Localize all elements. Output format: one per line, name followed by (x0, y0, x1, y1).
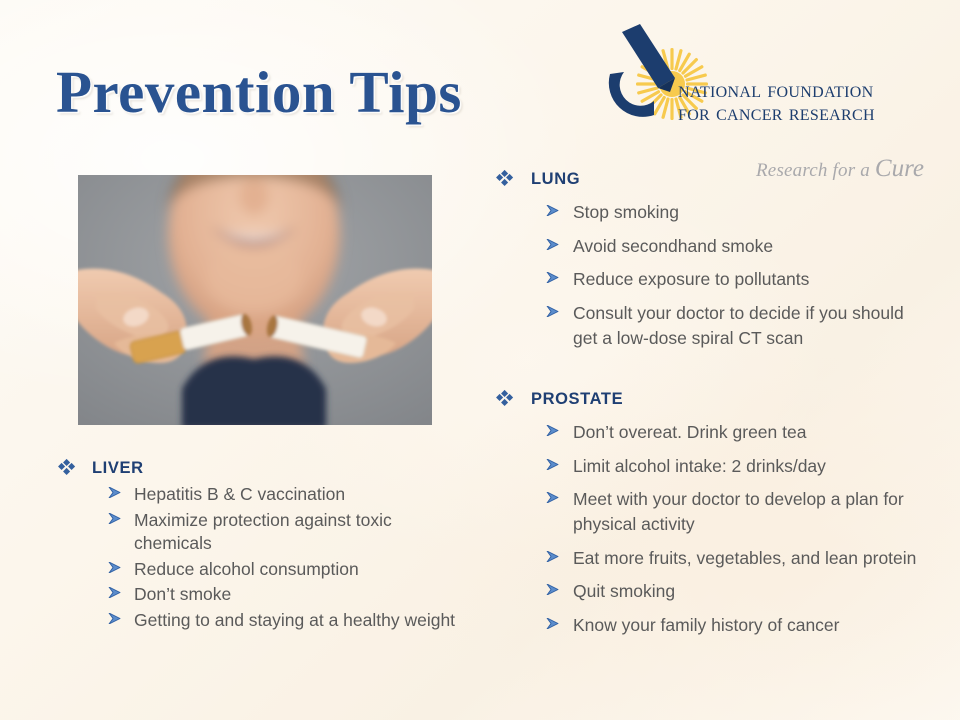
list-item-text: Limit alcohol intake: 2 drinks/day (573, 454, 923, 479)
list-item: Don’t overeat. Drink green tea (546, 420, 926, 445)
section-heading-label: LIVER (92, 459, 144, 478)
arrow-bullet-icon (546, 613, 573, 629)
arrow-bullet-icon (546, 487, 573, 503)
list-item-text: Eat more fruits, vegetables, and lean pr… (573, 546, 923, 571)
arrow-bullet-icon (108, 558, 134, 573)
diamond-bullet-icon (496, 170, 514, 186)
section-heading-liver: LIVER (58, 459, 144, 478)
tips-list-prostate: Don’t overeat. Drink green tea Limit alc… (546, 420, 926, 646)
list-item: Reduce alcohol consumption (108, 558, 480, 582)
section-heading-lung: LUNG (496, 170, 580, 189)
list-item: Reduce exposure to pollutants (546, 267, 926, 292)
arrow-bullet-icon (546, 301, 573, 317)
arrow-bullet-icon (108, 583, 134, 598)
arrow-bullet-icon (108, 609, 134, 624)
tips-list-lung: Stop smoking Avoid secondhand smoke Redu… (546, 200, 926, 359)
list-item: Quit smoking (546, 579, 926, 604)
slide-canvas: Prevention Tips (0, 0, 960, 720)
logo-wordmark: National Foundation for Cancer Research (678, 78, 875, 125)
list-item-text: Quit smoking (573, 579, 923, 604)
list-item: Hepatitis B & C vaccination (108, 483, 480, 507)
list-item-text: Avoid secondhand smoke (573, 234, 923, 259)
logo-line-1: National Foundation (678, 78, 875, 101)
list-item: Maximize protection against toxic chemic… (108, 509, 480, 556)
arrow-bullet-icon (546, 267, 573, 283)
arrow-bullet-icon (108, 509, 134, 524)
page-title: Prevention Tips (56, 58, 462, 127)
list-item-text: Stop smoking (573, 200, 923, 225)
diamond-bullet-icon (496, 390, 514, 406)
tagline-prefix: Research for a (756, 160, 875, 181)
arrow-bullet-icon (546, 546, 573, 562)
arrow-bullet-icon (546, 200, 573, 216)
arrow-bullet-icon (546, 579, 573, 595)
list-item-text: Reduce alcohol consumption (134, 558, 474, 582)
diamond-bullet-icon (58, 459, 76, 475)
logo-line-2: for Cancer Research (678, 101, 875, 124)
list-item: Limit alcohol intake: 2 drinks/day (546, 454, 926, 479)
list-item-text: Getting to and staying at a healthy weig… (134, 609, 474, 633)
logo-tagline: Research for a Cure (756, 155, 924, 183)
organization-logo: National Foundation for Cancer Research … (600, 22, 930, 167)
list-item: Meet with your doctor to develop a plan … (546, 487, 926, 537)
section-heading-label: PROSTATE (531, 390, 623, 409)
list-item: Stop smoking (546, 200, 926, 225)
list-item-text: Hepatitis B & C vaccination (134, 483, 474, 507)
list-item: Avoid secondhand smoke (546, 234, 926, 259)
arrow-bullet-icon (546, 454, 573, 470)
list-item: Know your family history of cancer (546, 613, 926, 638)
list-item-text: Meet with your doctor to develop a plan … (573, 487, 923, 537)
list-item-text: Consult your doctor to decide if you sho… (573, 301, 923, 351)
section-heading-prostate: PROSTATE (496, 390, 623, 409)
section-heading-label: LUNG (531, 170, 580, 189)
tips-list-liver: Hepatitis B & C vaccination Maximize pro… (108, 483, 480, 634)
list-item-text: Don’t smoke (134, 583, 474, 607)
list-item-text: Reduce exposure to pollutants (573, 267, 923, 292)
quit-smoking-photo (78, 175, 432, 425)
list-item-text: Maximize protection against toxic chemic… (134, 509, 474, 556)
arrow-bullet-icon (546, 234, 573, 250)
arrow-bullet-icon (546, 420, 573, 436)
list-item-text: Know your family history of cancer (573, 613, 923, 638)
list-item-text: Don’t overeat. Drink green tea (573, 420, 923, 445)
list-item: Don’t smoke (108, 583, 480, 607)
list-item: Getting to and staying at a healthy weig… (108, 609, 480, 633)
list-item: Consult your doctor to decide if you sho… (546, 301, 926, 351)
arrow-bullet-icon (108, 483, 134, 498)
list-item: Eat more fruits, vegetables, and lean pr… (546, 546, 926, 571)
tagline-emphasis: Cure (875, 155, 924, 182)
